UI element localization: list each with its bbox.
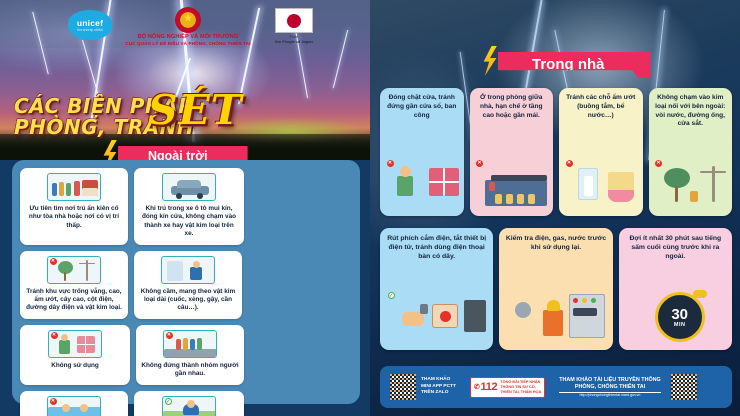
outdoor-card-text: Tránh khu vực trống vắng, cao, ẩm ướt, c…	[25, 288, 123, 313]
outdoor-card[interactable]: ✕ Không đứng thành nhóm người gần nhau.	[136, 325, 244, 385]
person-shape	[584, 176, 593, 196]
title-highlight: SÉT	[148, 90, 242, 131]
outdoor-card-text: Ưu tiên tìm nơi trú ẩn kiên cố như tòa n…	[25, 205, 123, 230]
person-shape	[59, 182, 64, 196]
car-wheel	[197, 193, 203, 199]
hotline-caption: TỔNG ĐÀI TIẾP NHẬN THÔNG TIN SỰ CỐ, THIÊ…	[500, 380, 541, 395]
worker-panel-icon	[505, 290, 606, 346]
ministry-line-1: BỘ NÔNG NGHIỆP VÀ MÔI TRƯỜNG	[118, 34, 258, 40]
prohibition-icon: ✕	[387, 160, 394, 167]
infographic-poster: unicef for every child ★ BỘ NÔNG NGHIỆP …	[0, 0, 740, 416]
water-basin	[608, 190, 634, 202]
person-shape	[190, 339, 195, 350]
japan-flag-sun	[287, 14, 301, 28]
person-tools-icon	[161, 256, 215, 284]
indoor-banner: Trong nhà	[498, 52, 651, 78]
outdoor-card[interactable]: ✕ Tránh khu vực trống vắng, cao, ẩm ướt,…	[20, 251, 128, 319]
footer-bar: THAM KHẢO MINI APP PCTT TRÊN ZALO ✆ 112 …	[380, 366, 732, 408]
person-shape	[52, 183, 57, 196]
ministry-line-2: CỤC QUẢN LÝ ĐÊ ĐIỀU VÀ PHÒNG, CHỐNG THIÊ…	[118, 41, 258, 46]
indoor-card[interactable]: Rút phích cắm điện, tắt thiết bị điện tử…	[380, 228, 493, 350]
lightning-bolt-icon	[480, 46, 500, 76]
timer-value: 30	[671, 307, 688, 322]
outdoor-card-text: Không sử dụng	[51, 362, 99, 370]
prohibition-icon: ✕	[655, 160, 662, 167]
outdoor-card-text: Không đứng thành nhóm người gần nhau.	[141, 362, 239, 379]
hand-shape	[402, 312, 424, 326]
ministry-logo: ★ BỘ NÔNG NGHIỆP VÀ MÔI TRƯỜNG CỤC QUẢN …	[118, 7, 258, 46]
person-head	[193, 261, 200, 268]
crouch-position-icon: ✓	[162, 396, 216, 416]
swimmer-head	[80, 404, 88, 412]
thirty-minute-timer-icon: 30 MIN	[625, 290, 726, 346]
indoor-card[interactable]: Ở trong phòng giữa nhà, hạn chế ở tầng c…	[470, 88, 554, 216]
building-roof-icon: ✕	[475, 158, 549, 212]
indoor-card[interactable]: Tránh các chỗ ẩm ướt (buồng tắm, bể nước…	[559, 88, 643, 216]
building-window	[528, 194, 535, 204]
tree-powerline-icon: ✕	[47, 256, 101, 284]
indoor-card-text: Ở trong phòng giữa nhà, hạn chế ở tầng c…	[475, 94, 549, 120]
japan-line-2: the People of Japan	[262, 39, 326, 44]
zalo-line-3: TRÊN ZALO	[421, 390, 456, 396]
timer-dial: 30 MIN	[655, 292, 705, 342]
unicef-logo: unicef for every child	[68, 10, 112, 40]
outdoor-card-text: Không cầm, mang theo vật kim loại dài (c…	[139, 288, 237, 313]
indoor-card-text: Rút phích cắm điện, tắt thiết bị điện tử…	[386, 234, 487, 261]
mard-line-1: THAM KHẢO TÀI LIỆU TRUYỀN THÔNG	[559, 377, 661, 384]
person-shape	[66, 183, 71, 196]
tree-canopy	[664, 168, 690, 188]
person-window-icon: ✕	[48, 330, 102, 358]
outdoor-cards-grid: Ưu tiên tìm nơi trú ẩn kiên cố như tòa n…	[20, 168, 352, 416]
water-shape	[48, 407, 101, 416]
japan-flag-icon	[275, 8, 313, 33]
mard-qr-code[interactable]	[671, 374, 697, 400]
left-panel-outdoor: unicef for every child ★ BỘ NÔNG NGHIỆP …	[0, 0, 370, 416]
prohibition-icon: ✕	[566, 160, 573, 167]
tree-trunk	[675, 186, 678, 202]
person-shape	[74, 181, 80, 196]
person-shape	[690, 191, 698, 202]
outdoor-card[interactable]: Không cầm, mang theo vật kim loại dài (c…	[134, 251, 242, 319]
logo-row: unicef for every child ★ BỘ NÔNG NGHIỆP …	[0, 6, 370, 48]
outdoor-card-text: Khi trú trong xe ô tô mui kín, đóng kín …	[139, 205, 239, 239]
person-head	[187, 400, 195, 408]
indoor-card-text: Tránh các chỗ ẩm ướt (buồng tắm, bể nước…	[564, 94, 638, 120]
timer-unit: MIN	[674, 322, 686, 328]
mard-url[interactable]: http://phongchongthientai.mard.gov.vn	[559, 392, 661, 398]
worker-body	[543, 310, 563, 336]
thumb-art	[48, 174, 100, 200]
bathroom-icon: ✕	[564, 158, 638, 212]
prohibition-icon: ✕	[476, 160, 483, 167]
swimmer-head	[62, 404, 70, 412]
zalo-qr-code[interactable]	[390, 374, 416, 400]
helmet-icon	[547, 300, 560, 311]
indoor-banner-label: Trong nhà	[498, 52, 651, 78]
unplug-switch-icon: ✓	[386, 290, 487, 346]
outdoor-card[interactable]: ✓ Khi cảm thấy tóc bị dựng lên, ngay lập…	[134, 391, 244, 416]
person-shape	[190, 267, 202, 280]
zalo-caption: THAM KHẢO MINI APP PCTT TRÊN ZALO	[421, 377, 456, 396]
person-shape	[176, 339, 181, 350]
hotline-number-block: ✆ 112	[474, 381, 500, 393]
thumb-art	[162, 257, 214, 283]
star-icon: ★	[183, 13, 193, 24]
hotline-badge[interactable]: ✆ 112 TỔNG ĐÀI TIẾP NHẬN THÔNG TIN SỰ CỐ…	[470, 377, 545, 398]
prohibition-icon: ✕	[50, 258, 57, 265]
building-window	[506, 194, 513, 204]
indoor-card-text: Đợi ít nhất 30 phút sau tiếng sấm cuối c…	[625, 234, 726, 261]
outdoor-card[interactable]: Ưu tiên tìm nơi trú ẩn kiên cố như tòa n…	[20, 168, 128, 245]
indoor-card-text: Đóng chặt cửa, tránh đứng gần cửa sổ, ba…	[385, 94, 459, 120]
plug-shape	[420, 304, 428, 314]
right-panel-indoor: Trong nhà Đóng chặt cửa, tránh đứng gần …	[370, 0, 740, 416]
person-shape	[197, 338, 202, 350]
person-head	[61, 334, 68, 341]
phone-icon: ✆	[474, 383, 480, 391]
prohibition-icon: ✕	[50, 398, 57, 405]
timer-arrow	[693, 290, 707, 298]
indoor-cards-row-2: Rút phích cắm điện, tắt thiết bị điện tử…	[380, 228, 732, 350]
indoor-card-text: Kiểm tra điện, gas, nước trước khi sử dụ…	[505, 234, 606, 252]
group-people-icon: ✕	[163, 330, 217, 358]
power-icon	[515, 302, 531, 318]
person-shape	[397, 176, 413, 196]
unicef-name: unicef	[77, 18, 103, 28]
hotline-line-1: TỔNG ĐÀI TIẾP NHẬN	[500, 380, 541, 385]
building-base	[82, 188, 98, 196]
pole-crossarm	[79, 263, 95, 264]
pole-crossarm	[700, 171, 726, 173]
socket-hole	[440, 311, 451, 322]
unicef-tagline: for every child	[77, 28, 102, 32]
car-cabin	[177, 180, 201, 188]
prohibition-icon: ✕	[51, 332, 58, 339]
tree-trunk	[64, 272, 66, 281]
panel-display	[573, 308, 597, 316]
tree-powerline-icon: ✕	[654, 158, 728, 212]
person-shape	[59, 340, 70, 354]
window-mullion	[77, 344, 95, 345]
building-window	[517, 194, 524, 204]
hotline-line-3: THIÊN TAI, THẢM HỌA	[500, 390, 541, 395]
person-head	[400, 166, 411, 177]
person-shape	[489, 182, 495, 191]
roof-shape	[491, 175, 547, 181]
indoor-card[interactable]: Đợi ít nhất 30 phút sau tiếng sấm cuối c…	[619, 228, 732, 350]
indoor-card[interactable]: Kiểm tra điện, gas, nước trước khi sử dụ…	[499, 228, 612, 350]
outdoor-card[interactable]: Khi trú trong xe ô tô mui kín, đóng kín …	[134, 168, 244, 245]
mard-line-2: PHÒNG, CHỐNG THIÊN TAI	[559, 384, 661, 391]
person-shape	[183, 338, 188, 350]
outdoor-card[interactable]: ✕ Không sử dụng	[20, 325, 130, 385]
door-shape	[167, 261, 183, 281]
hotline-line-2: THÔNG TIN SỰ CỐ,	[500, 385, 541, 390]
person-window-icon: ✕	[385, 158, 459, 212]
japan-logo: From the People of Japan	[262, 8, 326, 44]
switch-shape	[464, 300, 486, 332]
car-wheel	[176, 193, 182, 199]
mard-reference-block: THAM KHẢO TÀI LIỆU TRUYỀN THÔNG PHÒNG, C…	[559, 377, 661, 398]
check-icon: ✓	[388, 292, 395, 299]
prohibition-icon: ✕	[166, 332, 173, 339]
outdoor-cards-container: Ưu tiên tìm nơi trú ẩn kiên cố như tòa n…	[12, 160, 360, 404]
indoor-card[interactable]: Đóng chặt cửa, tránh đứng gần cửa sổ, ba…	[380, 88, 464, 216]
indoor-card-text: Không chạm vào kim loại nối với bên ngoà…	[654, 94, 728, 129]
thumb-art	[163, 174, 215, 200]
check-icon: ✓	[165, 398, 172, 405]
swimming-icon: ✕	[47, 396, 101, 416]
building-window	[495, 194, 502, 204]
indoor-card[interactable]: Không chạm vào kim loại nối với bên ngoà…	[649, 88, 733, 216]
hotline-number: 112	[481, 381, 498, 393]
ground-shape	[164, 349, 217, 357]
car-icon	[162, 173, 216, 201]
outdoor-card[interactable]: ✕ Không bơi lội, chèo thuyền, làm việc t…	[20, 391, 128, 416]
window-mullion	[429, 181, 459, 183]
vietnam-emblem-icon: ★	[175, 7, 201, 33]
people-building-icon	[47, 173, 101, 201]
indoor-cards-row-1: Đóng chặt cửa, tránh đứng gần cửa sổ, ba…	[380, 88, 732, 216]
